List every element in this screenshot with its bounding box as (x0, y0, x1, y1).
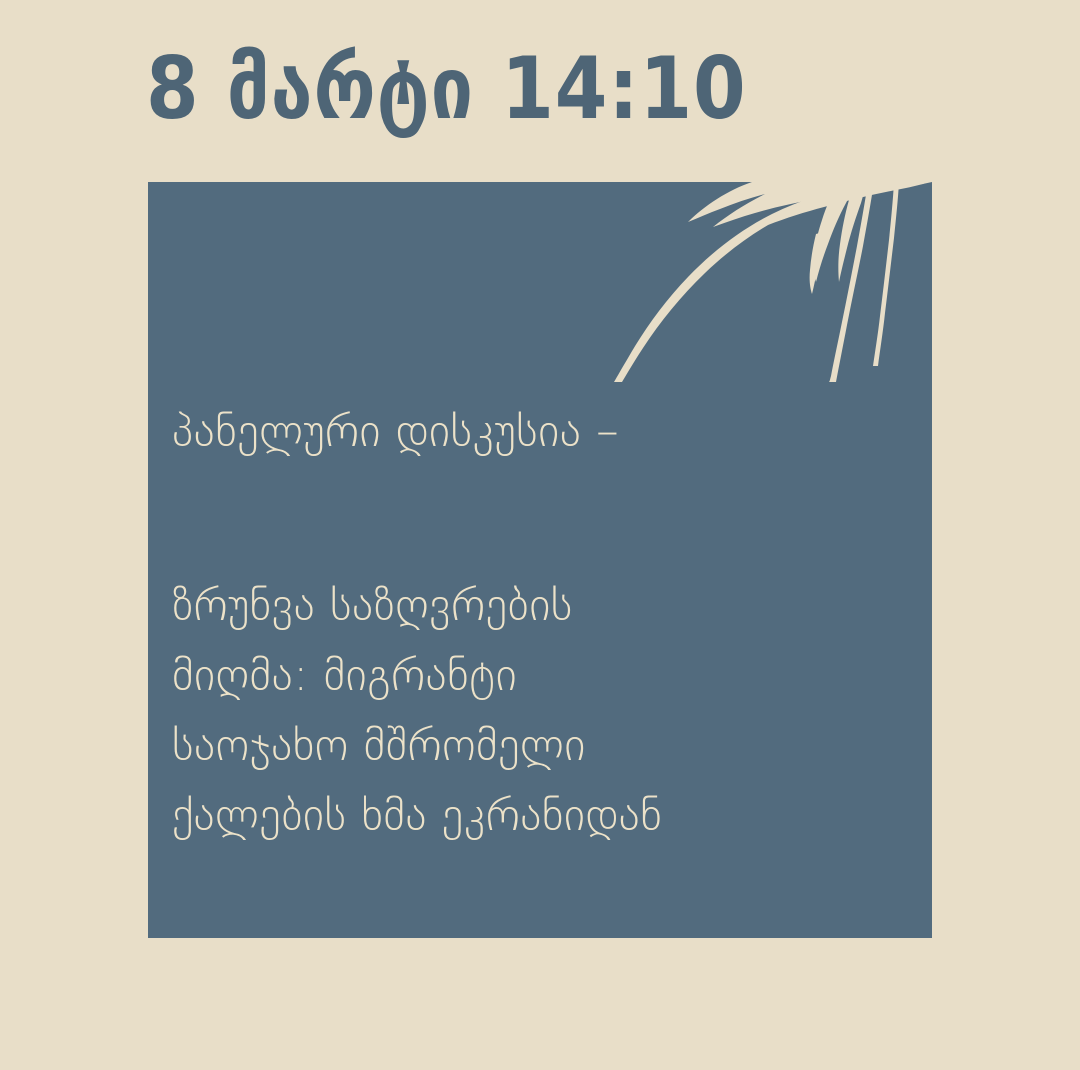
leaf-brushstroke-icon (602, 182, 932, 382)
panel-body-line-2: მიღმა: მიგრანტი (172, 640, 928, 710)
text-spacer (172, 466, 928, 570)
panel-body-line-4: ქალების ხმა ეკრანიდან (172, 780, 928, 850)
panel-heading: პანელური დისკუსია – (172, 396, 928, 466)
page-title: 8 მარტი 14:10 (146, 33, 903, 151)
panel-body-line-3: საოჯახო მშრომელი (172, 710, 928, 780)
panel-text-block: პანელური დისკუსია – ზრუნვა საზღვრების მი… (172, 396, 928, 850)
panel-body-line-1: ზრუნვა საზღვრების (172, 570, 928, 640)
info-panel: პანელური დისკუსია – ზრუნვა საზღვრების მი… (148, 182, 932, 938)
poster-canvas: 8 მარტი 14:10 (0, 0, 1080, 1070)
